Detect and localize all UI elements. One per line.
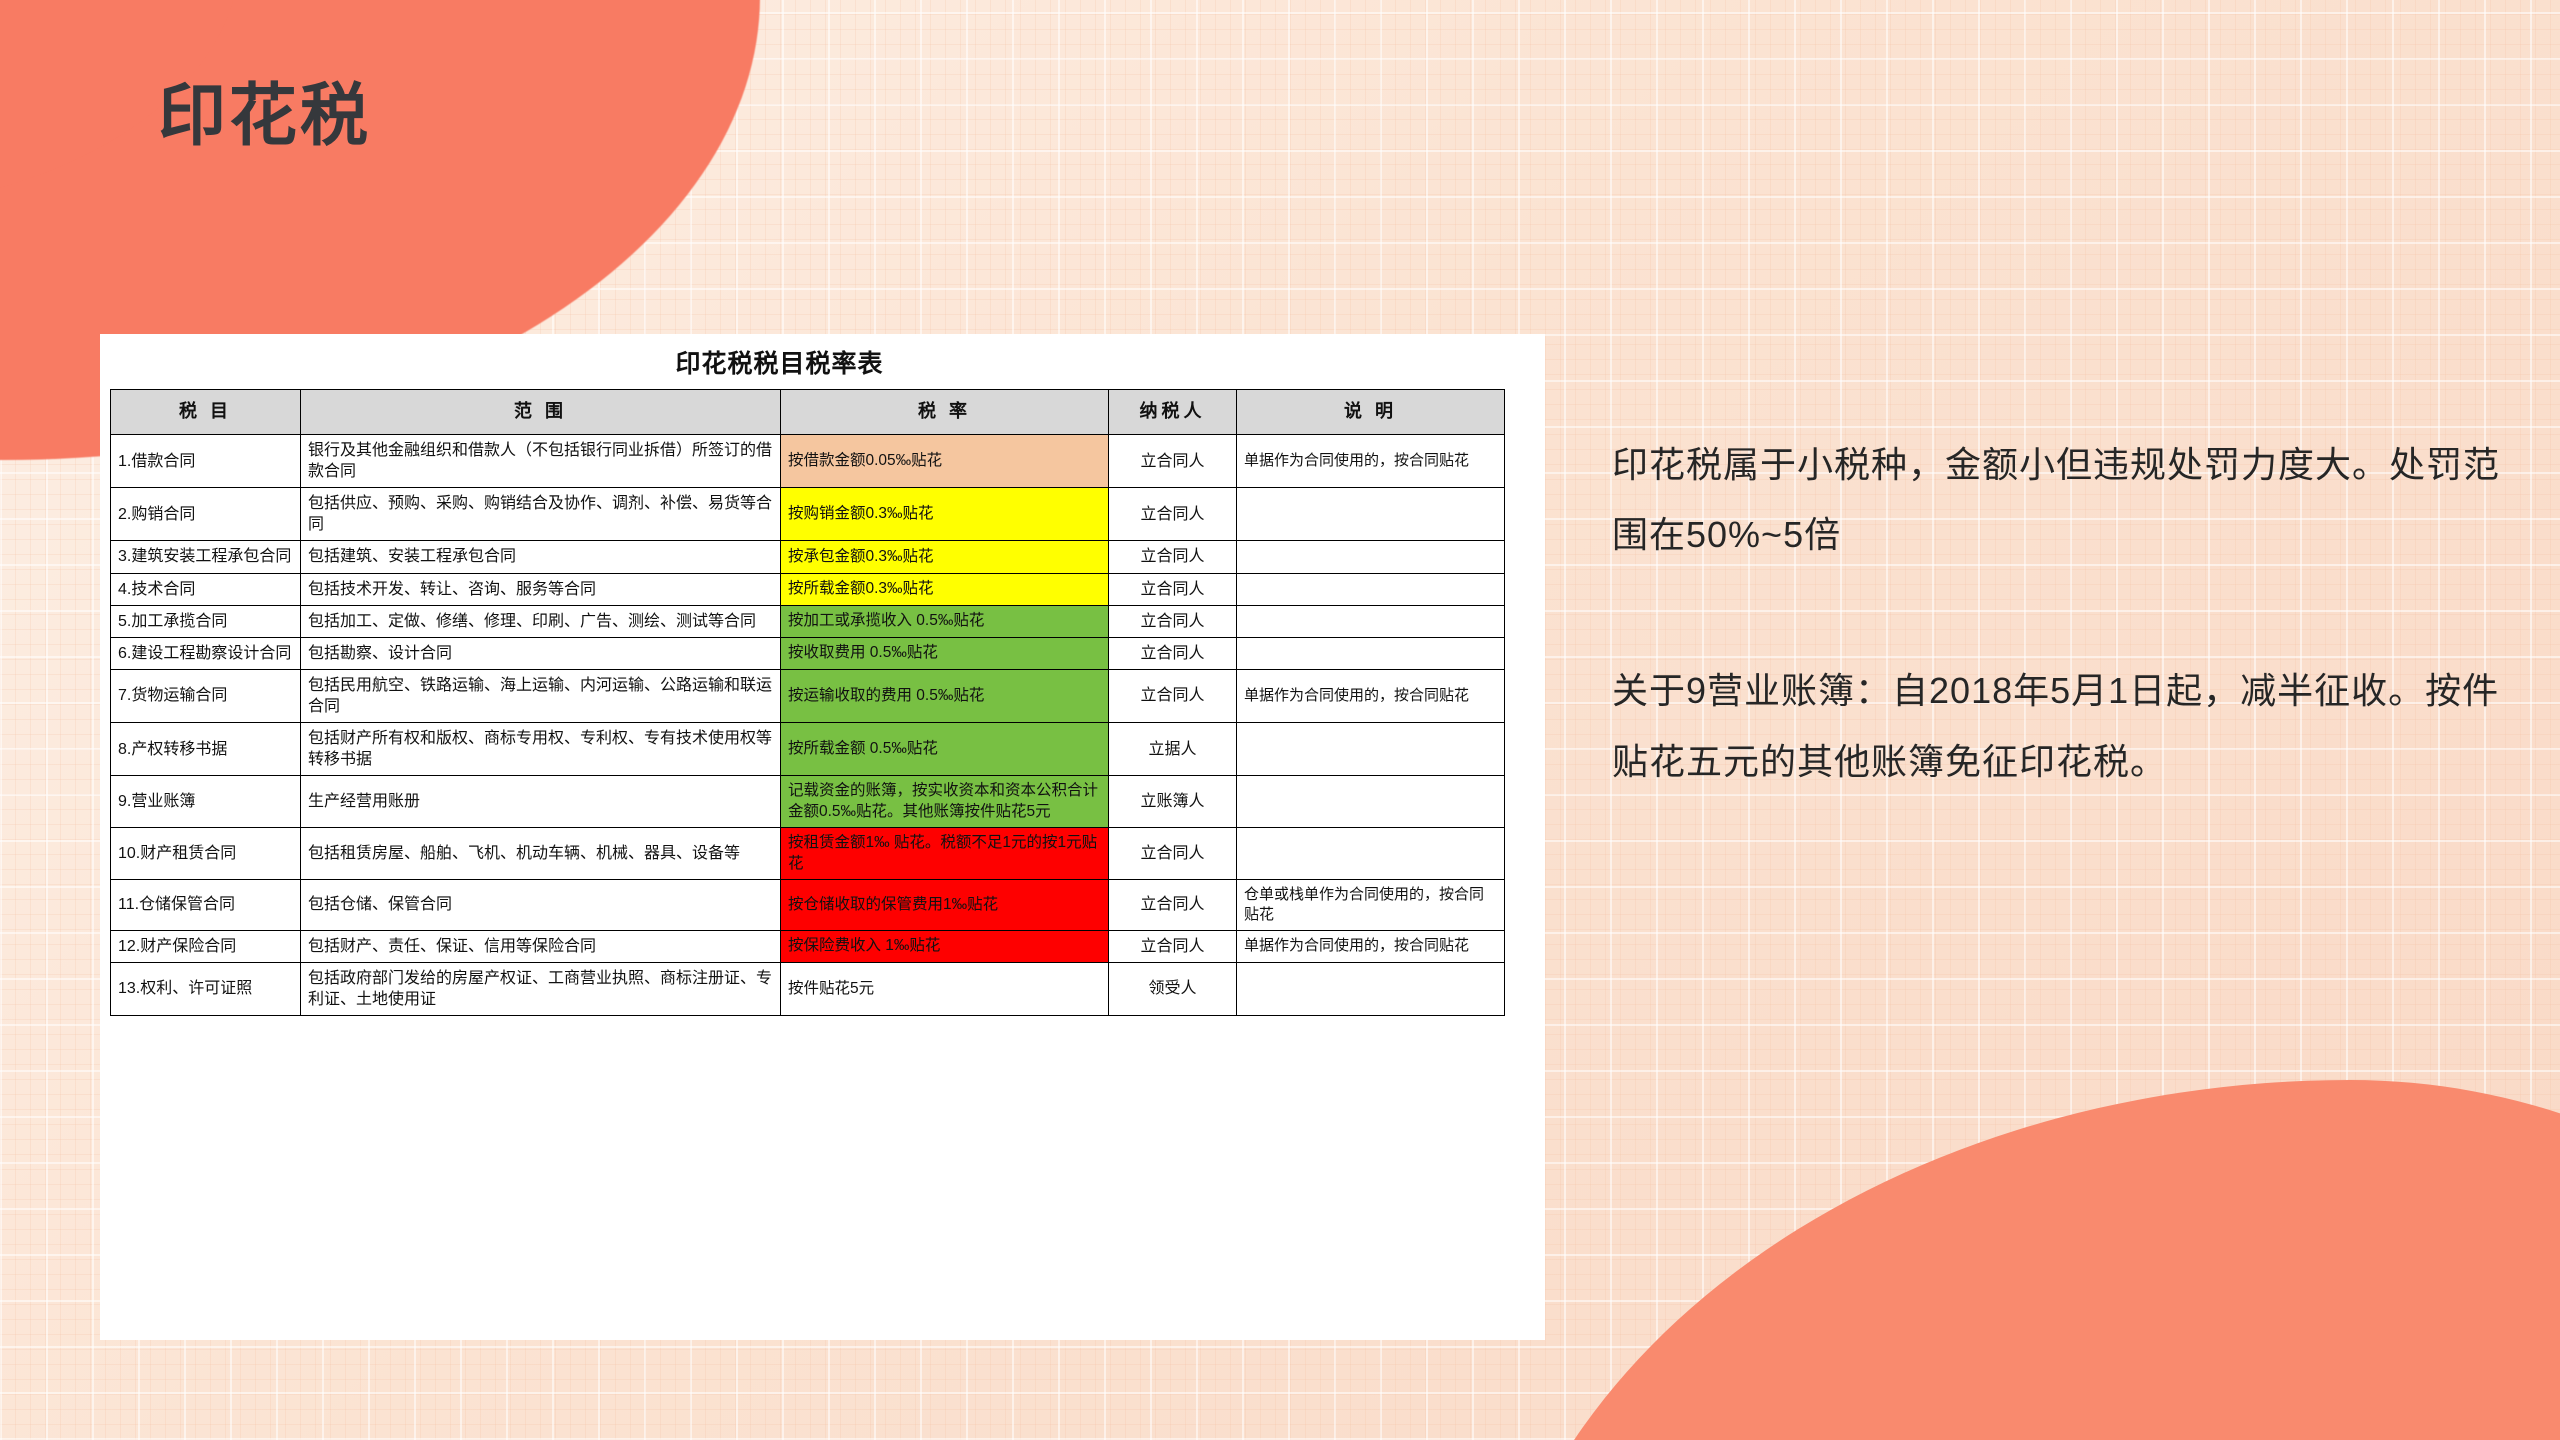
cell-item: 6.建设工程勘察设计合同 [111,637,301,669]
cell-payer: 领受人 [1109,962,1237,1015]
cell-scope: 包括租赁房屋、船舶、飞机、机动车辆、机械、器具、设备等 [301,828,781,880]
body-paragraph-1: 印花税属于小税种，金额小但违规处罚力度大。处罚范围在50%~5倍 [1612,430,2512,570]
cell-rate: 按运输收取的费用 0.5‰贴花 [781,669,1109,722]
table-row: 8.产权转移书据包括财产所有权和版权、商标专用权、专利权、专有技术使用权等转移书… [111,723,1505,776]
cell-payer: 立合同人 [1109,541,1237,573]
page-title: 印花税 [158,74,371,159]
cell-scope: 包括技术开发、转让、咨询、服务等合同 [301,573,781,605]
cell-note [1237,962,1505,1015]
table-caption: 印花税税目税率表 [100,344,1545,380]
body-text-block: 印花税属于小税种，金额小但违规处罚力度大。处罚范围在50%~5倍 关于9营业账簿… [1612,430,2512,797]
column-header-scope: 范 围 [301,390,781,435]
column-header-note: 说 明 [1237,390,1505,435]
cell-scope: 包括建筑、安装工程承包合同 [301,541,781,573]
cell-rate: 按所载金额 0.5‰贴花 [781,723,1109,776]
cell-rate: 按承包金额0.3‰贴花 [781,541,1109,573]
cell-rate: 按保险费收入 1‰贴花 [781,930,1109,962]
cell-rate: 按加工或承揽收入 0.5‰贴花 [781,605,1109,637]
cell-rate: 按租赁金额1‰ 贴花。税额不足1元的按1元贴花 [781,828,1109,880]
cell-scope: 包括加工、定做、修缮、修理、印刷、广告、测绘、测试等合同 [301,605,781,637]
cell-note [1237,573,1505,605]
cell-scope: 包括财产、责任、保证、信用等保险合同 [301,930,781,962]
table-row: 3.建筑安装工程承包合同包括建筑、安装工程承包合同按承包金额0.3‰贴花立合同人 [111,541,1505,573]
cell-rate: 按收取费用 0.5‰贴花 [781,637,1109,669]
cell-note: 单据作为合同使用的，按合同贴花 [1237,669,1505,722]
table-header: 税 目 范 围 税 率 纳税人 说 明 [111,390,1505,435]
cell-item: 7.货物运输合同 [111,669,301,722]
cell-payer: 立据人 [1109,723,1237,776]
cell-item: 5.加工承揽合同 [111,605,301,637]
table-row: 13.权利、许可证照包括政府部门发给的房屋产权证、工商营业执照、商标注册证、专利… [111,962,1505,1015]
table-row: 5.加工承揽合同包括加工、定做、修缮、修理、印刷、广告、测绘、测试等合同按加工或… [111,605,1505,637]
slide-canvas: 印花税 印花税税目税率表 税 目 范 围 税 率 纳税人 说 明 1.借款合同银… [0,0,2560,1440]
cell-note [1237,776,1505,828]
table-body: 1.借款合同银行及其他金融组织和借款人（不包括银行同业拆借）所签订的借款合同按借… [111,435,1505,1016]
table-row: 10.财产租赁合同包括租赁房屋、船舶、飞机、机动车辆、机械、器具、设备等按租赁金… [111,828,1505,880]
table-header-row: 税 目 范 围 税 率 纳税人 说 明 [111,390,1505,435]
table-row: 6.建设工程勘察设计合同包括勘察、设计合同按收取费用 0.5‰贴花立合同人 [111,637,1505,669]
cell-note [1237,605,1505,637]
cell-rate: 记载资金的账簿，按实收资本和资本公积合计金额0.5‰贴花。其他账簿按件贴花5元 [781,776,1109,828]
cell-rate: 按借款金额0.05‰贴花 [781,435,1109,488]
cell-note: 单据作为合同使用的，按合同贴花 [1237,435,1505,488]
cell-item: 9.营业账簿 [111,776,301,828]
stamp-duty-rate-table: 税 目 范 围 税 率 纳税人 说 明 1.借款合同银行及其他金融组织和借款人（… [110,389,1505,1016]
table-row: 12.财产保险合同包括财产、责任、保证、信用等保险合同按保险费收入 1‰贴花立合… [111,930,1505,962]
cell-payer: 立合同人 [1109,573,1237,605]
body-paragraph-2: 关于9营业账簿：自2018年5月1日起，减半征收。按件贴花五元的其他账簿免征印花… [1612,656,2512,796]
cell-note [1237,488,1505,541]
cell-scope: 包括民用航空、铁路运输、海上运输、内河运输、公路运输和联运合同 [301,669,781,722]
column-header-item: 税 目 [111,390,301,435]
table-row: 2.购销合同包括供应、预购、采购、购销结合及协作、调剂、补偿、易货等合同按购销金… [111,488,1505,541]
cell-scope: 包括仓储、保管合同 [301,880,781,931]
cell-note [1237,637,1505,669]
cell-payer: 立合同人 [1109,930,1237,962]
cell-note [1237,723,1505,776]
cell-item: 12.财产保险合同 [111,930,301,962]
cell-scope: 银行及其他金融组织和借款人（不包括银行同业拆借）所签订的借款合同 [301,435,781,488]
cell-item: 3.建筑安装工程承包合同 [111,541,301,573]
cell-note: 单据作为合同使用的，按合同贴花 [1237,930,1505,962]
cell-payer: 立账簿人 [1109,776,1237,828]
cell-rate: 按购销金额0.3‰贴花 [781,488,1109,541]
cell-payer: 立合同人 [1109,637,1237,669]
cell-note: 仓单或栈单作为合同使用的，按合同贴花 [1237,880,1505,931]
cell-payer: 立合同人 [1109,880,1237,931]
cell-item: 10.财产租赁合同 [111,828,301,880]
cell-rate: 按所载金额0.3‰贴花 [781,573,1109,605]
column-header-payer: 纳税人 [1109,390,1237,435]
cell-item: 11.仓储保管合同 [111,880,301,931]
cell-payer: 立合同人 [1109,488,1237,541]
cell-payer: 立合同人 [1109,669,1237,722]
cell-item: 8.产权转移书据 [111,723,301,776]
cell-scope: 包括政府部门发给的房屋产权证、工商营业执照、商标注册证、专利证、土地使用证 [301,962,781,1015]
cell-item: 1.借款合同 [111,435,301,488]
cell-rate: 按仓储收取的保管费用1‰贴花 [781,880,1109,931]
cell-note [1237,828,1505,880]
cell-scope: 包括供应、预购、采购、购销结合及协作、调剂、补偿、易货等合同 [301,488,781,541]
cell-note [1237,541,1505,573]
table-row: 4.技术合同包括技术开发、转让、咨询、服务等合同按所载金额0.3‰贴花立合同人 [111,573,1505,605]
cell-scope: 生产经营用账册 [301,776,781,828]
table-row: 9.营业账簿生产经营用账册记载资金的账簿，按实收资本和资本公积合计金额0.5‰贴… [111,776,1505,828]
cell-item: 13.权利、许可证照 [111,962,301,1015]
table-row: 7.货物运输合同包括民用航空、铁路运输、海上运输、内河运输、公路运输和联运合同按… [111,669,1505,722]
cell-payer: 立合同人 [1109,605,1237,637]
cell-scope: 包括财产所有权和版权、商标专用权、专利权、专有技术使用权等转移书据 [301,723,781,776]
cell-item: 4.技术合同 [111,573,301,605]
rate-table-card: 印花税税目税率表 税 目 范 围 税 率 纳税人 说 明 1.借款合同银行及其他… [100,334,1545,1340]
cell-payer: 立合同人 [1109,435,1237,488]
cell-rate: 按件贴花5元 [781,962,1109,1015]
cell-scope: 包括勘察、设计合同 [301,637,781,669]
table-row: 11.仓储保管合同包括仓储、保管合同按仓储收取的保管费用1‰贴花立合同人仓单或栈… [111,880,1505,931]
cell-payer: 立合同人 [1109,828,1237,880]
column-header-rate: 税 率 [781,390,1109,435]
table-row: 1.借款合同银行及其他金融组织和借款人（不包括银行同业拆借）所签订的借款合同按借… [111,435,1505,488]
cell-item: 2.购销合同 [111,488,301,541]
